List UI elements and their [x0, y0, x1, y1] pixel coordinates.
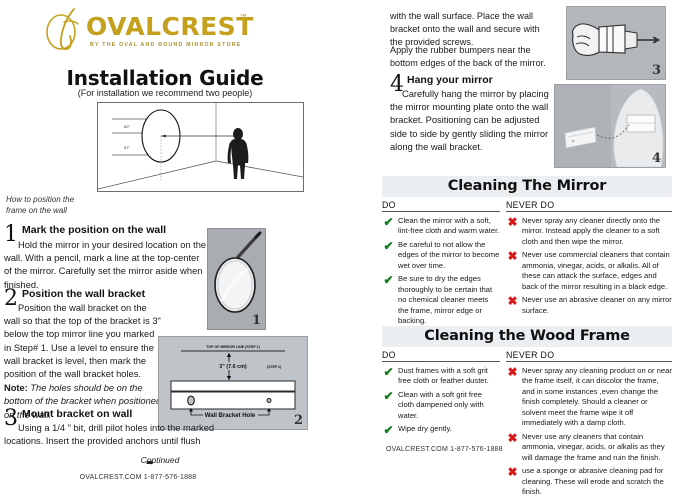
do-item-text: Wipe dry gently. — [398, 424, 452, 434]
panel-cleaning-wood-frame: Cleaning the Wood Frame DO ✔ Dust frames… — [382, 326, 672, 501]
installation-guide-page: OVALCREST ™ BY THE OVAL AND ROUND MIRROR… — [0, 0, 679, 489]
room-position-diagram: 60" 57" — [97, 102, 304, 192]
step-1: 1 Mark the position on the wall Hold the… — [4, 224, 209, 292]
list-item: ✔ Be sure to dry the edges thoroughly to… — [382, 274, 500, 326]
logo-tagline: BY THE OVAL AND ROUND MIRROR STORE — [90, 42, 241, 48]
do-item-text: Be sure to dry the edges thoroughly to b… — [398, 274, 500, 326]
cross-icon: ✖ — [506, 295, 519, 307]
do-divider — [382, 361, 500, 362]
never-divider — [506, 361, 672, 362]
cross-icon: ✖ — [506, 366, 519, 378]
step-4-body: Carefully hang the mirror by placing the… — [390, 88, 554, 154]
never-item-text: use a sponge or abrasive cleaning pad fo… — [522, 466, 672, 497]
panel-cleaning-mirror: Cleaning The Mirror DO ✔ Clean the mirro… — [382, 176, 672, 330]
step-1-number: 1 — [4, 224, 18, 246]
do-item-text: Dust frames with a soft grit free cloth … — [398, 366, 500, 387]
cross-icon: ✖ — [506, 250, 519, 262]
room-diagram-caption: How to position the frame on the wall — [6, 195, 92, 216]
svg-text:57": 57" — [124, 145, 130, 150]
cleaning-wood-never-label: NEVER DO — [506, 350, 672, 361]
figure-mirror-with-pencil: 1 — [207, 228, 266, 330]
cleaning-mirror-never-column: NEVER DO ✖ Never spray any cleaner direc… — [506, 200, 672, 330]
step-2: 2 Position the wall bracket Position the… — [4, 288, 164, 422]
person-silhouette — [228, 128, 249, 179]
step-1-heading: Mark the position on the wall — [22, 224, 209, 236]
check-icon: ✔ — [382, 366, 395, 378]
cleaning-wood-do-label: DO — [382, 350, 500, 361]
never-item-text: Never use commercial cleaners that conta… — [522, 250, 672, 292]
cleaning-mirror-do-column: DO ✔ Clean the mirror with a soft, lint-… — [382, 200, 506, 330]
figure-4-svg — [555, 85, 665, 167]
figure-3-svg — [567, 7, 665, 79]
never-item-text: Never spray any cleaner directly onto th… — [522, 216, 672, 247]
cleaning-mirror-do-label: DO — [382, 200, 500, 211]
check-icon: ✔ — [382, 216, 395, 228]
left-column: OVALCREST ™ BY THE OVAL AND ROUND MIRROR… — [0, 0, 372, 489]
step-3-heading: Mount bracket on wall — [22, 408, 249, 420]
cleaning-wood-title: Cleaning the Wood Frame — [382, 326, 672, 347]
step-4: 4 Hang your mirror Carefully hang the mi… — [390, 74, 554, 154]
step-2-note-label: Note: — [4, 383, 28, 393]
footer-left: OVALCREST.COM 1-877-576-1888 — [28, 474, 248, 481]
continued-label: Continued — [90, 455, 230, 465]
figure-drill-screwdriver: 3 — [566, 6, 666, 80]
room-diagram-svg: 60" 57" — [98, 103, 303, 191]
list-item: ✔ Clean the mirror with a soft, lint-fre… — [382, 216, 500, 237]
step-3-number: 3 — [4, 408, 18, 430]
cleaning-wood-never-column: NEVER DO ✖ Never spray any cleaning prod… — [506, 350, 672, 501]
trademark-symbol: ™ — [240, 14, 247, 21]
figure-4-number: 4 — [652, 151, 661, 166]
cleaning-mirror-never-label: NEVER DO — [506, 200, 672, 211]
list-item: ✔ Wipe dry gently. — [382, 424, 500, 436]
check-icon: ✔ — [382, 274, 395, 286]
cross-icon: ✖ — [506, 466, 519, 478]
list-item: ✖ use a sponge or abrasive cleaning pad … — [506, 466, 672, 497]
list-item: ✖ Never spray any cleaner directly onto … — [506, 216, 672, 247]
list-item: ✔ Dust frames with a soft grit free clot… — [382, 366, 500, 387]
list-item: ✖ Never use an abrasive cleaner on any m… — [506, 295, 672, 316]
step-2-heading: Position the wall bracket — [22, 288, 164, 300]
footer-right: OVALCREST.COM 1-877-576-1888 — [386, 446, 503, 453]
continued-arrow-icon: ➨ — [146, 456, 155, 469]
step-1-body: Hold the mirror in your desired location… — [4, 239, 209, 292]
list-item: ✔ Clean with a soft grit free cloth damp… — [382, 390, 500, 421]
list-item: ✔ Be careful to not allow the edges of t… — [382, 240, 500, 271]
list-item: ✖ Never spray any cleaning product on or… — [506, 366, 672, 429]
never-item-text: Never use any cleaners that contain ammo… — [522, 432, 672, 463]
cross-icon: ✖ — [506, 216, 519, 228]
list-item: ✖ Never use any cleaners that contain am… — [506, 432, 672, 463]
cleaning-wood-do-column: DO ✔ Dust frames with a soft grit free c… — [382, 350, 506, 501]
step-4-number: 4 — [390, 74, 404, 96]
do-item-text: Clean the mirror with a soft, lint-free … — [398, 216, 500, 237]
page-title: Installation Guide — [0, 66, 330, 90]
figure-3-number: 3 — [652, 63, 661, 78]
do-divider — [382, 211, 500, 212]
logo-wordmark: OVALCREST — [86, 14, 254, 39]
continuation-paragraph-2: Apply the rubber bumpers near the bottom… — [390, 44, 550, 70]
bracket-top-line-label: TOP OF MIRROR LINE (STEP 1) — [206, 345, 261, 349]
never-divider — [506, 211, 672, 212]
never-item-text: Never spray any cleaning product on or n… — [522, 366, 672, 429]
check-icon: ✔ — [382, 240, 395, 252]
cross-icon: ✖ — [506, 432, 519, 444]
page-subtitle: (For installation we recommend two peopl… — [0, 88, 330, 98]
step-2-number: 2 — [4, 288, 18, 310]
bracket-dimension-label: 3" (7.6 cm) — [219, 364, 247, 370]
list-item: ✖ Never use commercial cleaners that con… — [506, 250, 672, 292]
figure-2-number: 2 — [294, 413, 303, 428]
ovalcrest-logo: OVALCREST ™ BY THE OVAL AND ROUND MIRROR… — [44, 8, 254, 54]
step-3-body: Using a 1/4 " bit, drill pilot holes int… — [4, 422, 249, 448]
step-2-body: Position the wall bracket on the wall so… — [4, 302, 164, 381]
never-item-text: Never use an abrasive cleaner on any mir… — [522, 295, 672, 316]
right-column: with the wall surface. Place the wall br… — [372, 0, 679, 489]
svg-text:60": 60" — [124, 124, 130, 129]
figure-1-number: 1 — [252, 313, 261, 328]
figure-mounting-plate: 4 — [554, 84, 666, 168]
monogram-icon — [44, 6, 88, 52]
bracket-dimension-note: (STEP 2) — [267, 365, 281, 369]
step-3: 3 Mount bracket on wall Using a 1/4 " bi… — [4, 408, 249, 448]
step-4-heading: Hang your mirror — [407, 74, 554, 86]
check-icon: ✔ — [382, 424, 395, 436]
cleaning-mirror-title: Cleaning The Mirror — [382, 176, 672, 197]
do-item-text: Clean with a soft grit free cloth dampen… — [398, 390, 500, 421]
check-icon: ✔ — [382, 390, 395, 402]
do-item-text: Be careful to not allow the edges of the… — [398, 240, 500, 271]
